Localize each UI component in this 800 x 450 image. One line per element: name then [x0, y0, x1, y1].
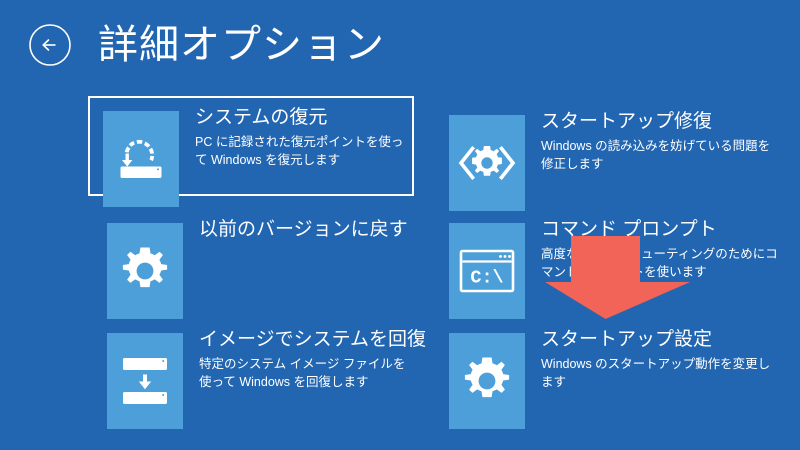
system-restore-icon	[103, 111, 179, 207]
option-tile-startup-settings[interactable]: スタートアップ設定 Windows のスタートアップ動作を変更します	[432, 316, 782, 416]
option-title: スタートアップ設定	[541, 329, 780, 351]
option-tile-previous-version[interactable]: 以前のバージョンに戻す	[90, 206, 414, 306]
option-description: 特定のシステム イメージ ファイルを使って Windows を回復します	[199, 356, 412, 392]
header: 詳細オプション	[0, 0, 800, 90]
option-title: 以前のバージョンに戻す	[199, 219, 412, 241]
back-arrow-circle-icon[interactable]	[28, 23, 72, 67]
option-title: コマンド プロンプト	[541, 219, 780, 241]
option-text: スタートアップ設定 Windows のスタートアップ動作を変更します	[541, 329, 780, 391]
page-title: 詳細オプション	[98, 25, 385, 65]
option-tile-system-restore[interactable]: システムの復元 PC に記録された復元ポイントを使って Windows を復元し…	[88, 96, 414, 196]
option-tile-startup-repair[interactable]: スタートアップ修復 Windows の読み込みを妨げている問題を修正します	[432, 98, 782, 198]
option-title: イメージでシステムを回復	[199, 329, 412, 351]
command-prompt-icon: C:\	[449, 223, 525, 319]
option-description: 高度なトラブルシューティングのためにコマンド プロンプトを使います	[541, 246, 780, 282]
svg-text:C:\: C:\	[470, 268, 503, 289]
startup-repair-icon	[449, 115, 525, 211]
option-text: スタートアップ修復 Windows の読み込みを妨げている問題を修正します	[541, 111, 780, 173]
option-text: システムの復元 PC に記録された復元ポイントを使って Windows を復元し…	[195, 107, 412, 169]
option-title: システムの復元	[195, 107, 412, 129]
options-grid: システムの復元 PC に記録された復元ポイントを使って Windows を復元し…	[88, 96, 788, 436]
option-tile-command-prompt[interactable]: C:\ コマンド プロンプト 高度なトラブルシューティングのためにコマンド プロ…	[432, 206, 782, 306]
option-description: PC に記録された復元ポイントを使って Windows を復元します	[195, 134, 412, 170]
option-text: 以前のバージョンに戻す	[199, 219, 412, 241]
option-description: Windows の読み込みを妨げている問題を修正します	[541, 138, 780, 174]
option-text: コマンド プロンプト 高度なトラブルシューティングのためにコマンド プロンプトを…	[541, 219, 780, 281]
system-image-recovery-icon	[107, 333, 183, 429]
option-text: イメージでシステムを回復 特定のシステム イメージ ファイルを使って Windo…	[199, 329, 412, 391]
option-description: Windows のスタートアップ動作を変更します	[541, 356, 780, 392]
gear-icon	[107, 223, 183, 319]
advanced-options-screen: 詳細オプション	[0, 0, 800, 450]
gear-icon	[449, 333, 525, 429]
option-tile-image-recovery[interactable]: イメージでシステムを回復 特定のシステム イメージ ファイルを使って Windo…	[90, 316, 414, 416]
option-title: スタートアップ修復	[541, 111, 780, 133]
